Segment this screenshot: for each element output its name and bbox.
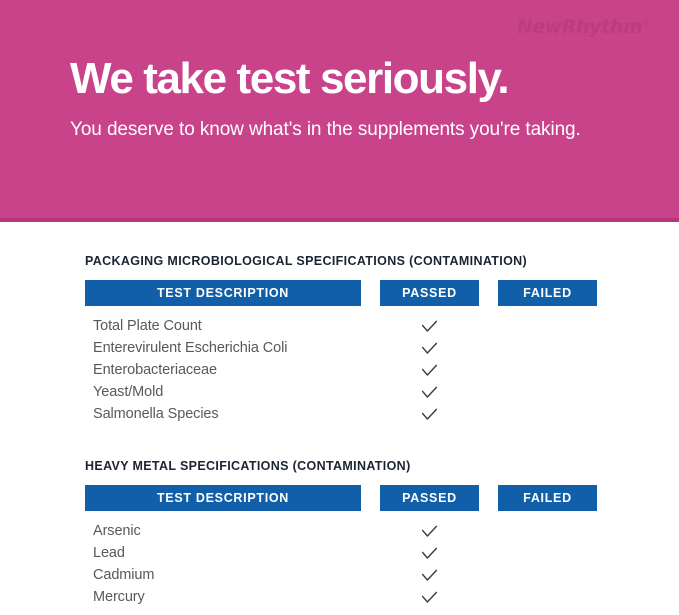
passed-cell <box>380 386 479 399</box>
check-icon <box>421 525 438 538</box>
page-title: We take test seriously. <box>70 56 679 103</box>
passed-cell <box>380 569 479 582</box>
registered-trademark-icon: ® <box>642 19 651 29</box>
section-heading: PACKAGING MICROBIOLOGICAL SPECIFICATIONS… <box>85 254 679 268</box>
passed-cell <box>380 342 479 355</box>
column-header-failed: FAILED <box>498 485 597 511</box>
table-body: Total Plate CountEnterevirulent Escheric… <box>85 306 597 425</box>
check-icon <box>421 547 438 560</box>
column-header-passed: PASSED <box>380 485 479 511</box>
header-spacer <box>479 280 498 306</box>
passed-cell <box>380 591 479 604</box>
table-row: Enterevirulent Escherichia Coli <box>85 337 597 359</box>
table-row: Cadmium <box>85 564 597 586</box>
hero-banner: NewRhythm® We take test seriously. You d… <box>0 0 679 222</box>
table-row: Total Plate Count <box>85 315 597 337</box>
header-spacer <box>479 485 498 511</box>
test-name: Enterobacteriaceae <box>85 362 361 378</box>
table-body: ArsenicLeadCadmiumMercury <box>85 511 597 608</box>
spec-table: TEST DESCRIPTIONPASSEDFAILEDTotal Plate … <box>85 280 597 425</box>
passed-cell <box>380 408 479 421</box>
passed-cell <box>380 547 479 560</box>
test-name: Yeast/Mold <box>85 384 361 400</box>
test-name: Enterevirulent Escherichia Coli <box>85 340 361 356</box>
check-icon <box>421 591 438 604</box>
table-row: Arsenic <box>85 520 597 542</box>
brand-logo: NewRhythm® <box>517 16 651 38</box>
check-icon <box>421 386 438 399</box>
table-header-row: TEST DESCRIPTIONPASSEDFAILED <box>85 280 597 306</box>
spec-section: PACKAGING MICROBIOLOGICAL SPECIFICATIONS… <box>0 254 679 425</box>
check-icon <box>421 320 438 333</box>
test-name: Salmonella Species <box>85 406 361 422</box>
sections-container: PACKAGING MICROBIOLOGICAL SPECIFICATIONS… <box>0 254 679 608</box>
table-row: Yeast/Mold <box>85 381 597 403</box>
page-subtitle: You deserve to know what's in the supple… <box>70 117 600 144</box>
test-name: Total Plate Count <box>85 318 361 334</box>
column-header-description: TEST DESCRIPTION <box>85 280 361 306</box>
section-heading: HEAVY METAL SPECIFICATIONS (CONTAMINATIO… <box>85 459 679 473</box>
passed-cell <box>380 525 479 538</box>
passed-cell <box>380 320 479 333</box>
check-icon <box>421 342 438 355</box>
passed-cell <box>380 364 479 377</box>
test-name: Cadmium <box>85 567 361 583</box>
brand-logo-text: NewRhythm <box>517 16 643 38</box>
test-name: Mercury <box>85 589 361 605</box>
table-row: Salmonella Species <box>85 403 597 425</box>
check-icon <box>421 408 438 421</box>
table-row: Lead <box>85 542 597 564</box>
table-header-row: TEST DESCRIPTIONPASSEDFAILED <box>85 485 597 511</box>
column-header-passed: PASSED <box>380 280 479 306</box>
spec-section: HEAVY METAL SPECIFICATIONS (CONTAMINATIO… <box>0 459 679 608</box>
test-name: Arsenic <box>85 523 361 539</box>
check-icon <box>421 569 438 582</box>
table-row: Enterobacteriaceae <box>85 359 597 381</box>
header-spacer <box>361 280 380 306</box>
spec-table: TEST DESCRIPTIONPASSEDFAILEDArsenicLeadC… <box>85 485 597 608</box>
check-icon <box>421 364 438 377</box>
table-row: Mercury <box>85 586 597 608</box>
header-spacer <box>361 485 380 511</box>
test-name: Lead <box>85 545 361 561</box>
specifications-content: PACKAGING MICROBIOLOGICAL SPECIFICATIONS… <box>0 222 679 608</box>
column-header-description: TEST DESCRIPTION <box>85 485 361 511</box>
column-header-failed: FAILED <box>498 280 597 306</box>
